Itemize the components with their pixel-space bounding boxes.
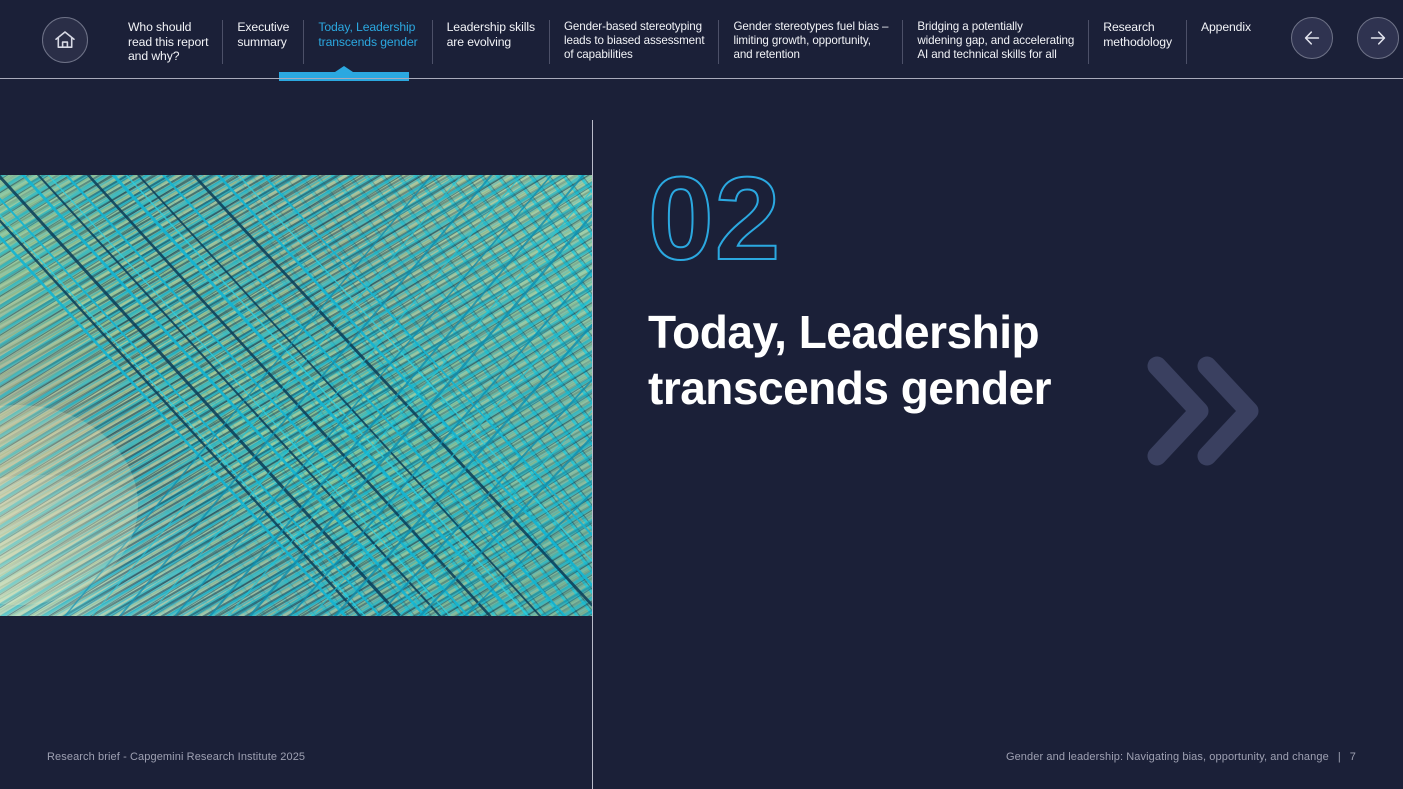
nav-item-today-leadership-transcends-gender[interactable]: Today, Leadership transcends gender bbox=[303, 20, 431, 64]
page-number: 7 bbox=[1350, 751, 1356, 763]
arrow-right-icon bbox=[1367, 27, 1389, 49]
nav-item-label: Who should read this report and why? bbox=[128, 20, 208, 64]
nav-item-who-should-read[interactable]: Who should read this report and why? bbox=[114, 20, 222, 64]
nav-item-label: Leadership skills are evolving bbox=[447, 20, 535, 49]
double-chevron-right-icon bbox=[1145, 352, 1265, 470]
nav-arrow-group bbox=[1291, 17, 1399, 59]
nav-item-bridging-widening-gap[interactable]: Bridging a potentially widening gap, and… bbox=[902, 20, 1088, 64]
footer-separator: | bbox=[1338, 751, 1341, 763]
home-icon bbox=[53, 28, 77, 52]
nav-item-label: Appendix bbox=[1201, 20, 1251, 35]
nav-item-label: Research methodology bbox=[1103, 20, 1172, 49]
nav-item-appendix[interactable]: Appendix bbox=[1186, 20, 1265, 64]
nav-item-research-methodology[interactable]: Research methodology bbox=[1088, 20, 1186, 64]
nav-item-label: Executive summary bbox=[237, 20, 289, 49]
next-slide-button[interactable] bbox=[1357, 17, 1399, 59]
nav-item-leadership-skills-evolving[interactable]: Leadership skills are evolving bbox=[432, 20, 549, 64]
nav-item-label: Today, Leadership transcends gender bbox=[318, 20, 417, 49]
active-tab-indicator bbox=[279, 72, 409, 81]
footer-left-text: Research brief - Capgemini Research Inst… bbox=[47, 751, 305, 763]
page-title: Today, Leadership transcends gender bbox=[648, 304, 1168, 416]
arrow-left-icon bbox=[1301, 27, 1323, 49]
nav-item-gender-stereotypes-fuel-bias[interactable]: Gender stereotypes fuel bias – limiting … bbox=[718, 20, 902, 64]
section-number: 02 bbox=[648, 160, 1348, 272]
nav-item-executive-summary[interactable]: Executive summary bbox=[222, 20, 303, 64]
hero-image bbox=[0, 175, 592, 616]
header-divider bbox=[0, 78, 1403, 79]
nav-item-label: Gender stereotypes fuel bias – limiting … bbox=[733, 20, 888, 63]
home-button[interactable] bbox=[42, 17, 88, 63]
nav-item-gender-based-stereotyping[interactable]: Gender-based stereotyping leads to biase… bbox=[549, 20, 718, 64]
footer-right: Gender and leadership: Navigating bias, … bbox=[1006, 751, 1356, 763]
footer-report-title: Gender and leadership: Navigating bias, … bbox=[1006, 751, 1329, 763]
vertical-divider bbox=[592, 120, 593, 789]
nav-item-label: Bridging a potentially widening gap, and… bbox=[917, 20, 1074, 63]
previous-slide-button[interactable] bbox=[1291, 17, 1333, 59]
slide: Who should read this report and why? Exe… bbox=[0, 0, 1403, 789]
top-navigation-bar: Who should read this report and why? Exe… bbox=[0, 0, 1403, 80]
nav-item-list: Who should read this report and why? Exe… bbox=[114, 20, 1265, 64]
nav-item-label: Gender-based stereotyping leads to biase… bbox=[564, 20, 704, 63]
